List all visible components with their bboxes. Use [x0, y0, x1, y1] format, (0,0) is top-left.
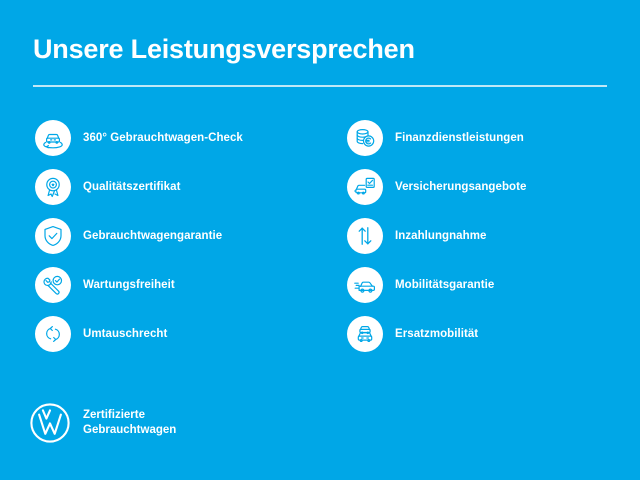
car-360-check-icon: [35, 120, 71, 156]
brand-text: ZertifizierteGebrauchtwagen: [83, 408, 176, 438]
feature-label: Gebrauchtwagengarantie: [83, 229, 222, 243]
feature-label: Mobilitätsgarantie: [395, 278, 494, 292]
up-down-arrows-icon: [347, 218, 383, 254]
feature-item-ersatzmobilitaet[interactable]: Ersatzmobilität: [347, 316, 640, 352]
features-right-column: Finanzdienstleistungen Versicheru: [324, 120, 640, 365]
feature-item-umtauschrecht[interactable]: Umtauschrecht: [35, 316, 324, 352]
feature-label: Versicherungsangebote: [395, 180, 526, 194]
title-divider: [33, 85, 607, 87]
wrench-check-icon: [35, 267, 71, 303]
feature-item-gebrauchtwagen-check[interactable]: 360° Gebrauchtwagen-Check: [35, 120, 324, 156]
car-checklist-icon: [347, 169, 383, 205]
car-motion-icon: [347, 267, 383, 303]
feature-item-wartungsfreiheit[interactable]: Wartungsfreiheit: [35, 267, 324, 303]
brand-line-2: Gebrauchtwagen: [83, 424, 176, 436]
feature-label: Ersatzmobilität: [395, 327, 478, 341]
features-left-column: 360° Gebrauchtwagen-Check Qualitätszerti…: [0, 120, 324, 365]
feature-item-inzahlungnahme[interactable]: Inzahlungnahme: [347, 218, 640, 254]
coins-euro-icon: [347, 120, 383, 156]
page-title: Unsere Leistungsversprechen: [33, 32, 607, 66]
promise-panel: Unsere Leistungsversprechen 3: [0, 0, 640, 480]
header: Unsere Leistungsversprechen: [33, 32, 607, 66]
feature-item-gebrauchtwagengarantie[interactable]: Gebrauchtwagengarantie: [35, 218, 324, 254]
feature-item-qualitaetszertifikat[interactable]: Qualitätszertifikat: [35, 169, 324, 205]
brand-line-1: Zertifizierte: [83, 409, 145, 421]
feature-item-mobilitaetsgarantie[interactable]: Mobilitätsgarantie: [347, 267, 640, 303]
award-rosette-icon: [35, 169, 71, 205]
exchange-arrows-icon: [35, 316, 71, 352]
feature-item-finanzdienstleistungen[interactable]: Finanzdienstleistungen: [347, 120, 640, 156]
feature-label: Finanzdienstleistungen: [395, 131, 524, 145]
brand-footer: ZertifizierteGebrauchtwagen: [29, 402, 176, 444]
two-cars-icon: [347, 316, 383, 352]
shield-check-icon: [35, 218, 71, 254]
features-grid: 360° Gebrauchtwagen-Check Qualitätszerti…: [0, 120, 640, 365]
feature-label: Inzahlungnahme: [395, 229, 486, 243]
feature-label: Umtauschrecht: [83, 327, 167, 341]
feature-item-versicherungsangebote[interactable]: Versicherungsangebote: [347, 169, 640, 205]
feature-label: 360° Gebrauchtwagen-Check: [83, 131, 243, 145]
feature-label: Qualitätszertifikat: [83, 180, 180, 194]
feature-label: Wartungsfreiheit: [83, 278, 175, 292]
volkswagen-logo-icon: [29, 402, 71, 444]
